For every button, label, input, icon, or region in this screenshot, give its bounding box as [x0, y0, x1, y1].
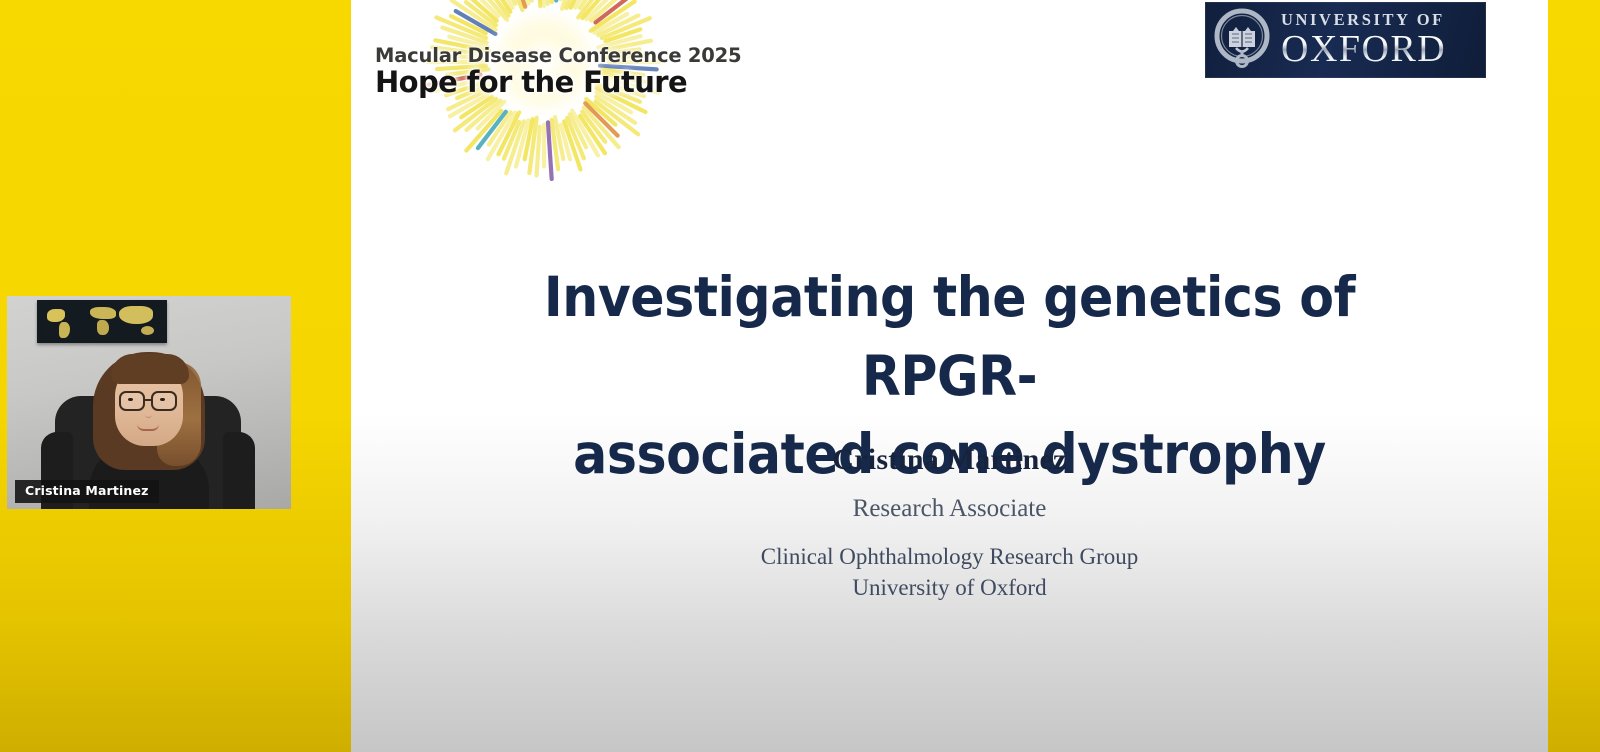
presenter-role: Research Associate: [411, 493, 1488, 526]
person-fringe: [111, 354, 189, 384]
presenter-group: Clinical Ophthalmology Research Group: [411, 541, 1488, 572]
video-call-stage: Macular Disease Conference 2025 Hope for…: [0, 0, 1600, 752]
shared-screen-slide[interactable]: Macular Disease Conference 2025 Hope for…: [351, 0, 1548, 752]
participant-name-label: Cristina Martinez: [15, 480, 159, 504]
eyeglasses-bridge: [145, 399, 151, 401]
oxford-crest-icon: [1211, 7, 1273, 73]
presenter-block: Cristina Martinez Research Associate Cli…: [411, 440, 1488, 604]
oxford-logo-line1: UNIVERSITY OF: [1281, 12, 1446, 29]
presenter-name: Cristina Martinez: [411, 440, 1488, 480]
presenter-institution: University of Oxford: [411, 572, 1488, 603]
conference-logo-line2: Hope for the Future: [375, 66, 685, 98]
eyeglasses-right-lens: [151, 391, 177, 411]
university-of-oxford-logo: UNIVERSITY OF OXFORD: [1205, 2, 1486, 78]
participant-video-tile[interactable]: Cristina Martinez: [7, 296, 291, 509]
conference-logo-line1: Macular Disease Conference 2025: [375, 46, 685, 66]
slide-title-line1: Investigating the genetics of RPGR-: [454, 258, 1445, 415]
eyeglasses-left-lens: [119, 391, 145, 411]
participant-person: [7, 296, 291, 509]
oxford-logo-line2: OXFORD: [1281, 30, 1446, 68]
conference-logo: Macular Disease Conference 2025 Hope for…: [375, 0, 685, 186]
person-mouth: [137, 424, 159, 431]
